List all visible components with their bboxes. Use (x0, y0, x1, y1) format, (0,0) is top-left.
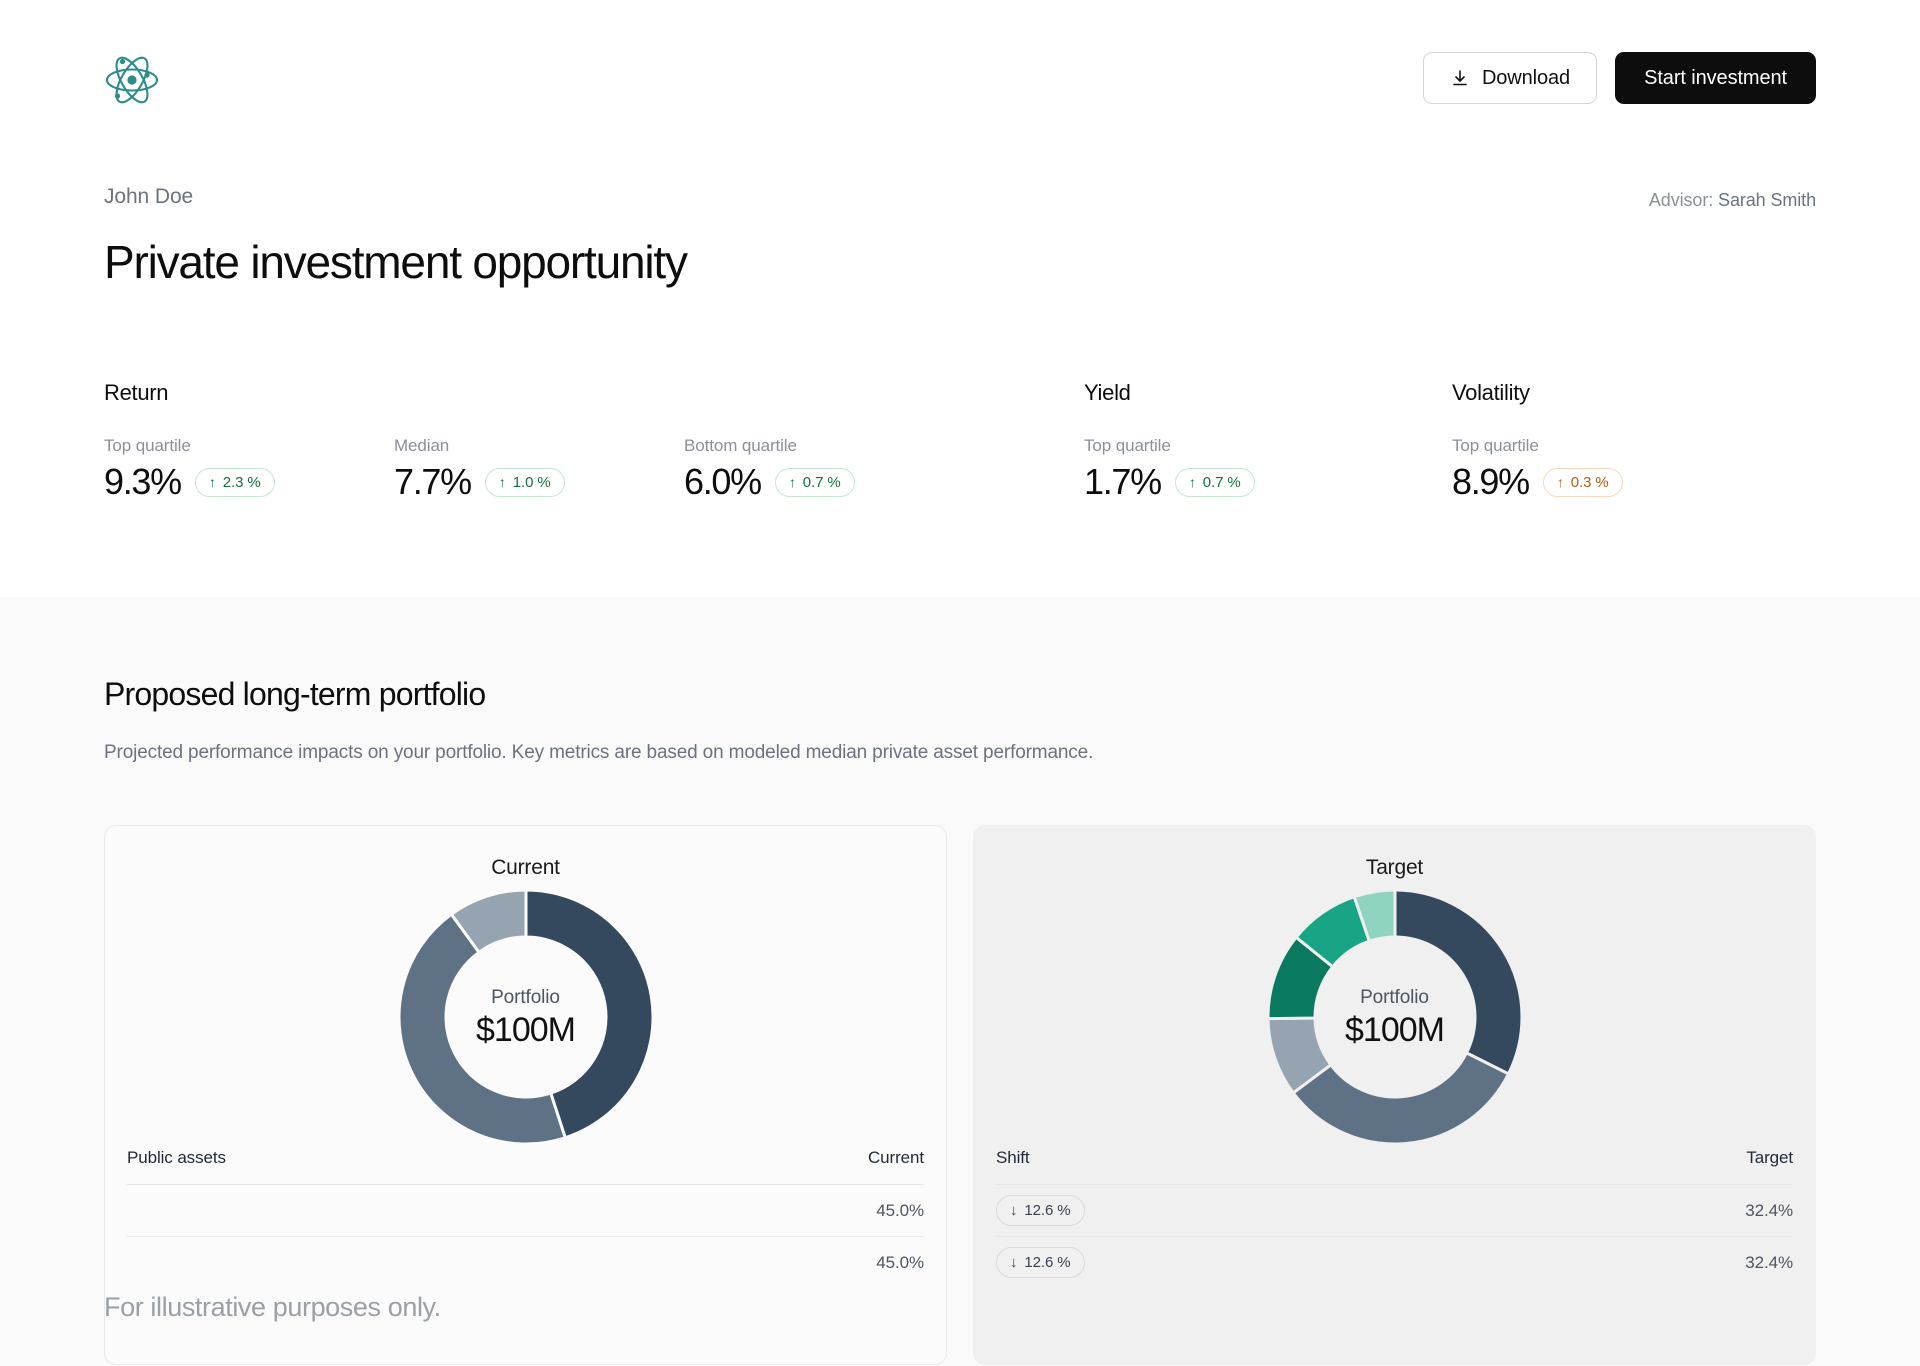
row-current-value: 45.0% (876, 1253, 924, 1273)
metric-value: 9.3% (104, 464, 181, 500)
target-table-header: Shift Target (996, 1148, 1793, 1184)
current-chart-title: Current (105, 856, 946, 880)
current-donut-chart: Portfolio $100M (397, 888, 655, 1146)
table-row[interactable]: ↓ 12.6 % 32.4% (996, 1236, 1793, 1288)
row-shift-cell: ↓ 12.6 % (996, 1247, 1745, 1278)
metric-delta-badge: ↑ 0.3 % (1543, 468, 1623, 497)
arrow-down-icon: ↓ (1010, 1202, 1017, 1219)
current-table: Public assets Current 45.0% 45.0% (105, 1148, 946, 1288)
arrow-up-icon: ↑ (209, 475, 216, 489)
column-header-target: Target (1746, 1148, 1793, 1168)
metric-delta-value: 1.0 % (513, 474, 551, 491)
metric-delta-badge: ↑ 1.0 % (485, 468, 565, 497)
advisor-name: Sarah Smith (1718, 190, 1816, 210)
metric-value: 8.9% (1452, 464, 1529, 500)
metric-group-return: Return Top quartile 9.3% ↑ 2.3 % (104, 380, 1084, 500)
page-title: Private investment opportunity (104, 237, 687, 288)
target-chart-title: Target (974, 856, 1815, 880)
arrow-up-icon: ↑ (499, 475, 506, 489)
row-current-value: 45.0% (876, 1201, 924, 1221)
top-region: Download Start investment John Doe Priva… (0, 0, 1920, 597)
row-target-value: 32.4% (1745, 1253, 1793, 1273)
metric-return-bottom-quartile: Bottom quartile 6.0% ↑ 0.7 % (684, 436, 974, 500)
metric-value: 7.7% (394, 464, 471, 500)
metric-delta-value: 0.7 % (803, 474, 841, 491)
row-shift-cell: ↓ 12.6 % (996, 1195, 1745, 1226)
page-header: Download Start investment (0, 0, 1920, 130)
metric-delta-badge: ↑ 2.3 % (195, 468, 275, 497)
download-icon (1450, 68, 1470, 88)
arrow-up-icon: ↑ (1189, 475, 1196, 489)
portfolio-section: Proposed long-term portfolio Projected p… (0, 597, 1920, 1366)
metric-group-title: Return (104, 380, 1084, 406)
start-investment-label: Start investment (1644, 67, 1787, 90)
current-donut-wrap: Portfolio $100M (105, 886, 946, 1148)
shift-value: 12.6 % (1024, 1202, 1070, 1219)
row-target-value: 32.4% (1745, 1201, 1793, 1221)
metric-label: Top quartile (104, 436, 394, 456)
report-page: Download Start investment John Doe Priva… (0, 0, 1920, 1366)
metrics-row: Return Top quartile 9.3% ↑ 2.3 % (104, 380, 1816, 500)
metric-return-median: Median 7.7% ↑ 1.0 % (394, 436, 684, 500)
metric-label: Median (394, 436, 684, 456)
arrow-up-icon: ↑ (789, 475, 796, 489)
download-button-label: Download (1482, 67, 1570, 90)
shift-value: 12.6 % (1024, 1254, 1070, 1271)
metric-volatility-top-quartile: Top quartile 8.9% ↑ 0.3 % (1452, 436, 1742, 500)
current-portfolio-card: Current Portfolio $100M Public assets Cu… (104, 825, 947, 1365)
metric-delta-badge: ↑ 0.7 % (775, 468, 855, 497)
section-subtitle: Projected performance impacts on your po… (104, 742, 1093, 764)
target-table: Shift Target ↓ 12.6 % 32.4% (974, 1148, 1815, 1288)
title-block: John Doe Private investment opportunity (104, 185, 687, 288)
target-donut-chart: Portfolio $100M (1266, 888, 1524, 1146)
shift-badge: ↓ 12.6 % (996, 1247, 1085, 1278)
column-header-shift: Shift (996, 1148, 1030, 1168)
metric-label: Top quartile (1452, 436, 1742, 456)
advisor-info: Advisor: Sarah Smith (1649, 190, 1816, 211)
target-donut-wrap: Portfolio $100M (974, 886, 1815, 1148)
column-header-public-assets: Public assets (127, 1148, 226, 1168)
metric-value: 6.0% (684, 464, 761, 500)
metric-group-yield: Yield Top quartile 1.7% ↑ 0.7 % (1084, 380, 1452, 500)
metric-yield-top-quartile: Top quartile 1.7% ↑ 0.7 % (1084, 436, 1374, 500)
table-row[interactable]: ↓ 12.6 % 32.4% (996, 1184, 1793, 1236)
download-button[interactable]: Download (1423, 52, 1597, 104)
metric-delta-value: 0.3 % (1571, 474, 1609, 491)
column-header-current: Current (868, 1148, 924, 1168)
advisor-label: Advisor: (1649, 190, 1713, 210)
shift-badge: ↓ 12.6 % (996, 1195, 1085, 1226)
metric-return-top-quartile: Top quartile 9.3% ↑ 2.3 % (104, 436, 394, 500)
metric-group-title: Yield (1084, 380, 1452, 406)
arrow-up-icon: ↑ (1557, 475, 1564, 489)
portfolio-cards: Current Portfolio $100M Public assets Cu… (104, 825, 1816, 1365)
client-name: John Doe (104, 185, 687, 209)
section-title: Proposed long-term portfolio (104, 676, 485, 713)
metric-group-volatility: Volatility Top quartile 8.9% ↑ 0.3 % (1452, 380, 1812, 500)
start-investment-button[interactable]: Start investment (1615, 52, 1816, 104)
metric-label: Bottom quartile (684, 436, 974, 456)
metric-delta-badge: ↑ 0.7 % (1175, 468, 1255, 497)
header-actions: Download Start investment (1423, 52, 1816, 104)
metric-value: 1.7% (1084, 464, 1161, 500)
metric-group-title: Volatility (1452, 380, 1812, 406)
table-row[interactable]: 45.0% (127, 1184, 924, 1236)
metric-delta-value: 2.3 % (223, 474, 261, 491)
atom-logo-icon (104, 52, 160, 108)
target-portfolio-card: Target Portfolio $100M Shift Target (973, 825, 1816, 1365)
table-row[interactable]: 45.0% (127, 1236, 924, 1288)
metric-label: Top quartile (1084, 436, 1374, 456)
donut-segment[interactable] (1395, 890, 1522, 1074)
metric-delta-value: 0.7 % (1203, 474, 1241, 491)
current-table-header: Public assets Current (127, 1148, 924, 1184)
arrow-down-icon: ↓ (1010, 1254, 1017, 1271)
